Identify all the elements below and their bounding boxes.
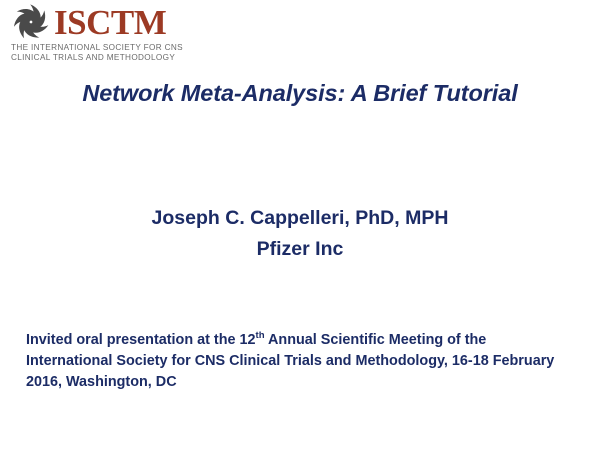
- pinwheel-star-icon: [10, 2, 52, 42]
- author-affiliation: Pfizer Inc: [0, 234, 600, 265]
- logo-tagline: THE INTERNATIONAL SOCIETY FOR CNS CLINIC…: [11, 43, 240, 62]
- presentation-note-part-1: Invited oral presentation at the 12: [26, 332, 256, 348]
- presentation-note-anchor: Invited oral presentation at the 12th An…: [26, 330, 556, 393]
- author-block: Joseph C. Cappelleri, PhD, MPH Pfizer In…: [0, 203, 600, 265]
- logo-wordmark-row: ISCTM: [10, 2, 240, 42]
- presentation-note: Invited oral presentation at the 12th An…: [26, 330, 556, 393]
- isctm-logo: ISCTM THE INTERNATIONAL SOCIETY FOR CNS …: [10, 2, 240, 66]
- slide-canvas: ISCTM THE INTERNATIONAL SOCIETY FOR CNS …: [0, 0, 600, 450]
- slide-title: Network Meta-Analysis: A Brief Tutorial: [0, 79, 600, 107]
- ordinal-suffix: th: [256, 330, 265, 341]
- logo-tagline-line-2: CLINICAL TRIALS AND METHODOLOGY: [11, 53, 240, 63]
- author-name: Joseph C. Cappelleri, PhD, MPH: [0, 203, 600, 234]
- logo-tagline-line-1: THE INTERNATIONAL SOCIETY FOR CNS: [11, 43, 240, 53]
- logo-wordmark-text: ISCTM: [54, 5, 166, 40]
